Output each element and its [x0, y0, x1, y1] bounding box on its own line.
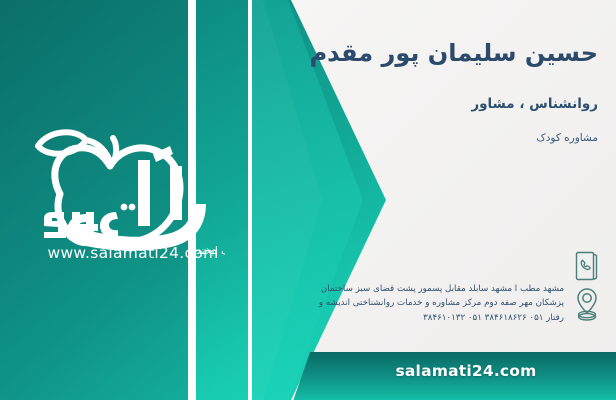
footer-website[interactable]: salamati24.com	[292, 352, 616, 390]
contact-row-address: مشهد مطب ا مشهد سابلد مقابل پسمور پشت فض…	[212, 282, 602, 325]
contact-row-phonebook	[212, 248, 602, 284]
contact-block: مشهد مطب ا مشهد سابلد مقابل پسمور پشت فض…	[212, 248, 602, 329]
person-speciality: مشاوره کودک	[178, 132, 598, 144]
phone-book-icon	[572, 248, 602, 284]
person-name: حسین سلیمان پور مقدم	[178, 38, 598, 68]
address-text: مشهد مطب ا مشهد سابلد مقابل پسمور پشت فض…	[212, 282, 564, 325]
business-card: براحتی یک لبخند www.salamati24.com حسین …	[0, 0, 616, 400]
logo-website[interactable]: www.salamati24.com	[38, 244, 228, 262]
person-role: روانشناس ، مشاور	[178, 96, 598, 112]
address-line-3: رفتار ۰۵۱ ۳۸۴۶۱۸۶۲۶ ۰۵۱ ۳۸۴۶۱۰۱۳۲	[212, 311, 564, 325]
map-pin-icon	[572, 286, 602, 322]
address-line-2: پزشکان مهر صفه دوم مرکز مشاوره و خدمات ر…	[212, 296, 564, 310]
contact-spacer	[212, 251, 564, 281]
footer-bar: salamati24.com	[292, 352, 616, 400]
address-line-1: مشهد مطب ا مشهد سابلد مقابل پسمور پشت فض…	[212, 282, 564, 296]
